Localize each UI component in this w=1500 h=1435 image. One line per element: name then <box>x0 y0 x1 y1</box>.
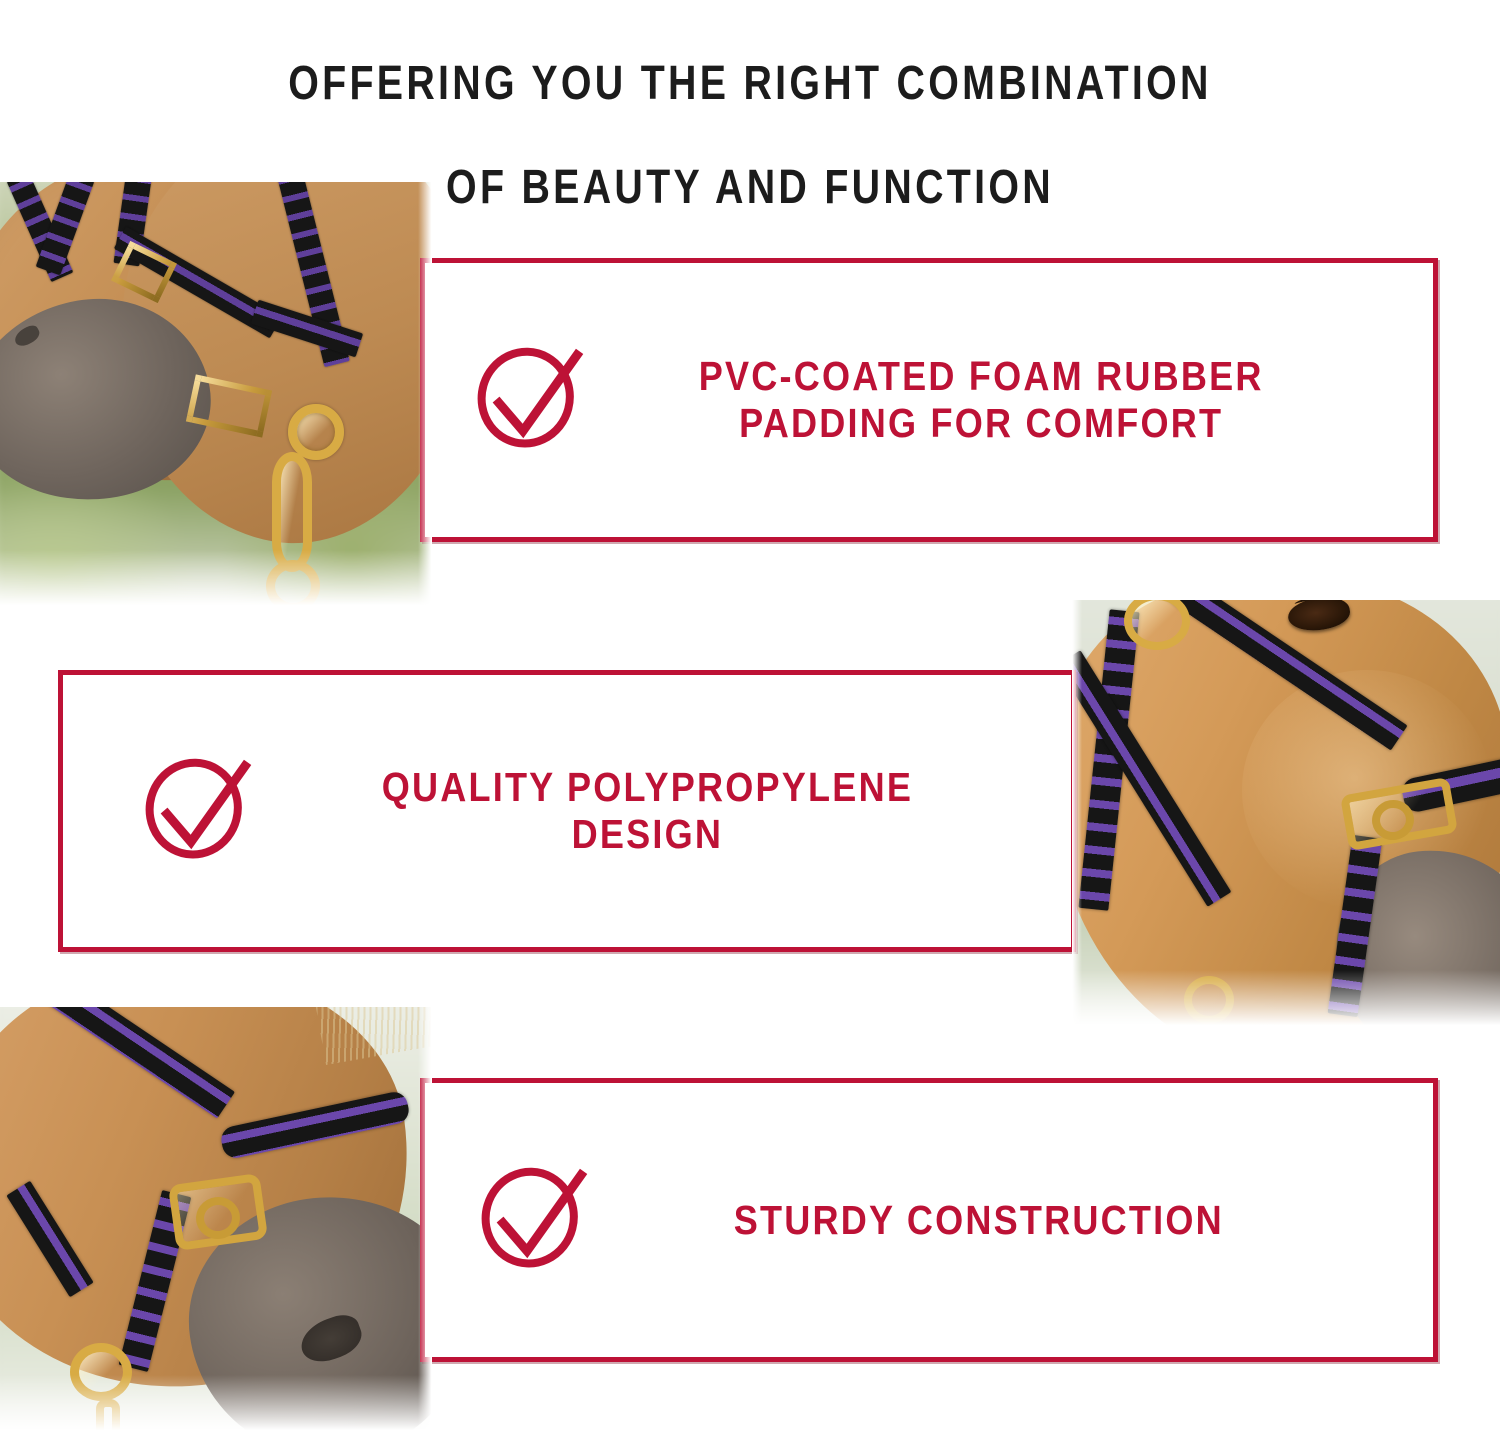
feature-box-1: PVC-COATED FOAM RUBBER PADDING FOR COMFO… <box>420 258 1438 542</box>
photo-1-right-fade <box>418 182 432 610</box>
photo-3-frame <box>0 1007 432 1435</box>
feature-box-3-inner: STURDY CONSTRUCTION <box>425 1083 1433 1357</box>
feature-box-2: QUALITY POLYPROPYLENE DESIGN <box>58 670 1076 952</box>
product-photo-head-eye <box>1072 600 1500 1030</box>
circle-check-icon <box>477 1161 595 1279</box>
photo-1-frame <box>0 182 432 610</box>
feature-box-1-inner: PVC-COATED FOAM RUBBER PADDING FOR COMFO… <box>425 263 1433 537</box>
photo-2-bottom-fade <box>1072 970 1500 1030</box>
feature-3-label: STURDY CONSTRUCTION <box>645 1197 1382 1244</box>
circle-check-icon <box>141 752 259 870</box>
feature-2-label: QUALITY POLYPROPYLENE DESIGN <box>308 764 1023 858</box>
halter-bottom-ring <box>288 404 344 460</box>
infographic-page: OFFERING YOU THE RIGHT COMBINATION OF BE… <box>0 0 1500 1435</box>
feature-1-label: PVC-COATED FOAM RUBBER PADDING FOR COMFO… <box>642 353 1383 447</box>
headline-line-1: OFFERING YOU THE RIGHT COMBINATION <box>135 58 1365 110</box>
photo-3-right-fade <box>418 1007 432 1435</box>
circle-check-icon <box>473 341 591 459</box>
feature-box-3: STURDY CONSTRUCTION <box>420 1078 1438 1362</box>
photo-2-left-fade <box>1072 600 1082 1030</box>
photo-3-bottom-fade <box>0 1375 432 1435</box>
photo-2-frame <box>1072 600 1500 1030</box>
photo-1-bottom-fade <box>0 550 432 610</box>
product-photo-noseband-ring <box>0 1007 432 1435</box>
feature-box-2-inner: QUALITY POLYPROPYLENE DESIGN <box>63 675 1071 947</box>
product-photo-muzzle-snap <box>0 182 432 610</box>
